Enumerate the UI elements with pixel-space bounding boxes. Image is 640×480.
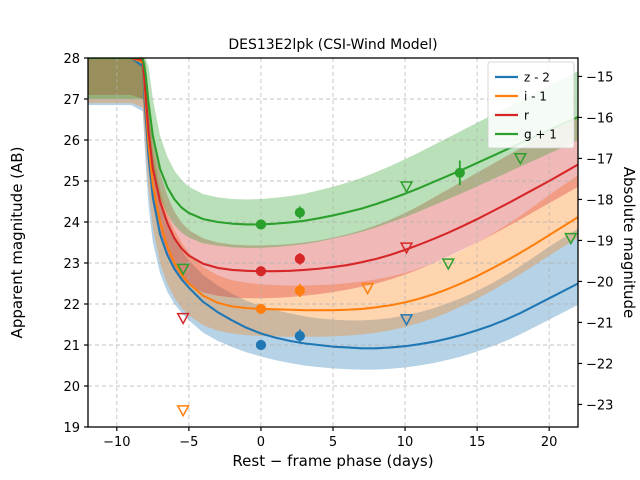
y-tick-label-right: −16 — [586, 111, 613, 126]
data-point — [295, 331, 304, 340]
y-tick-label: 22 — [63, 298, 80, 313]
data-point — [295, 208, 304, 217]
x-axis-title: Rest − frame phase (days) — [232, 452, 433, 470]
legend[interactable]: z - 2i - 1rg + 1 — [488, 62, 574, 148]
y-tick-label-right: −20 — [586, 275, 613, 290]
y-tick-label-right: −18 — [586, 193, 613, 208]
x-tick-label: −5 — [179, 435, 198, 450]
figure-container: −10−50510152019202122232425262728−23−22−… — [0, 0, 640, 480]
y-tick-label-right: −21 — [586, 316, 613, 331]
y-tick-label: 25 — [63, 175, 80, 190]
data-point — [295, 254, 304, 263]
y-tick-label-right: −22 — [586, 357, 613, 372]
y-tick-label: 24 — [63, 216, 80, 231]
y-tick-label-right: −23 — [586, 398, 613, 413]
data-point — [455, 168, 464, 177]
y-tick-label: 23 — [63, 257, 80, 272]
data-point — [256, 304, 265, 313]
data-point — [295, 286, 304, 295]
y-tick-label: 21 — [63, 339, 80, 354]
data-point — [256, 220, 265, 229]
y-tick-label: 27 — [63, 93, 80, 108]
legend-label-2[interactable]: r — [524, 109, 529, 123]
x-tick-label: 10 — [397, 435, 414, 450]
data-point — [256, 267, 265, 276]
y-axis-title-right: Absolute magnitude — [620, 167, 638, 318]
x-tick-label: 15 — [469, 435, 486, 450]
y-tick-label-right: −19 — [586, 234, 613, 249]
y-tick-label: 19 — [63, 421, 80, 436]
x-tick-label: 0 — [257, 435, 265, 450]
page-title: DES13E2lpk (CSI-Wind Model) — [228, 37, 437, 53]
y-tick-label: 28 — [63, 52, 80, 67]
x-tick-label: −10 — [103, 435, 130, 450]
x-tick-label: 5 — [329, 435, 337, 450]
legend-label-3[interactable]: g + 1 — [524, 128, 557, 142]
legend-label-1[interactable]: i - 1 — [524, 90, 547, 104]
x-tick-label: 20 — [541, 435, 558, 450]
data-point — [256, 340, 265, 349]
legend-label-0[interactable]: z - 2 — [524, 71, 550, 85]
y-axis-title: Apparent magnitude (AB) — [8, 147, 26, 339]
y-tick-label-right: −15 — [586, 70, 613, 85]
y-tick-label: 26 — [63, 134, 80, 149]
y-tick-label: 20 — [63, 380, 80, 395]
y-tick-label-right: −17 — [586, 152, 613, 167]
light-curve-chart: −10−50510152019202122232425262728−23−22−… — [0, 0, 640, 480]
